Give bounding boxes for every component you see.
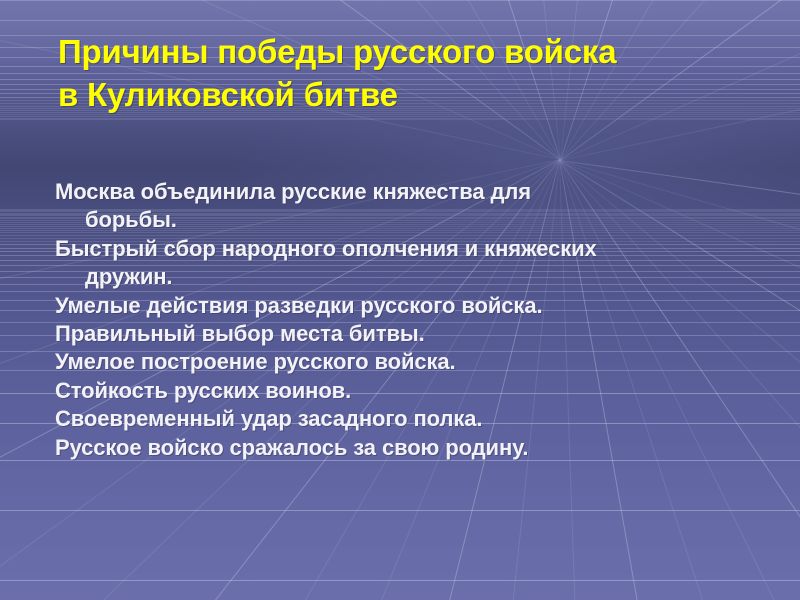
list-item: Умелое построение русского войска. — [55, 348, 775, 376]
list-item-continuation: дружин. — [55, 263, 775, 291]
list-item: Москва объединила русские княжества для — [55, 178, 775, 206]
list-item-continuation: борьбы. — [55, 206, 775, 234]
presentation-slide: Причины победы русского войска в Куликов… — [0, 0, 800, 600]
list-item: Правильный выбор места битвы. — [55, 320, 775, 348]
slide-title-line-1: Причины победы русского войска — [58, 30, 758, 73]
slide-content: Причины победы русского войска в Куликов… — [0, 0, 800, 600]
slide-title-line-2: в Куликовской битве — [58, 73, 758, 116]
list-item: Русское войско сражалось за свою родину. — [55, 434, 775, 462]
list-item: Стойкость русских воинов. — [55, 377, 775, 405]
list-item: Умелые действия разведки русского войска… — [55, 292, 775, 320]
list-item: Быстрый сбор народного ополчения и княже… — [55, 235, 775, 263]
slide-body-list: Москва объединила русские княжества для … — [55, 178, 775, 462]
slide-title: Причины победы русского войска в Куликов… — [58, 30, 758, 116]
list-item: Своевременный удар засадного полка. — [55, 405, 775, 433]
